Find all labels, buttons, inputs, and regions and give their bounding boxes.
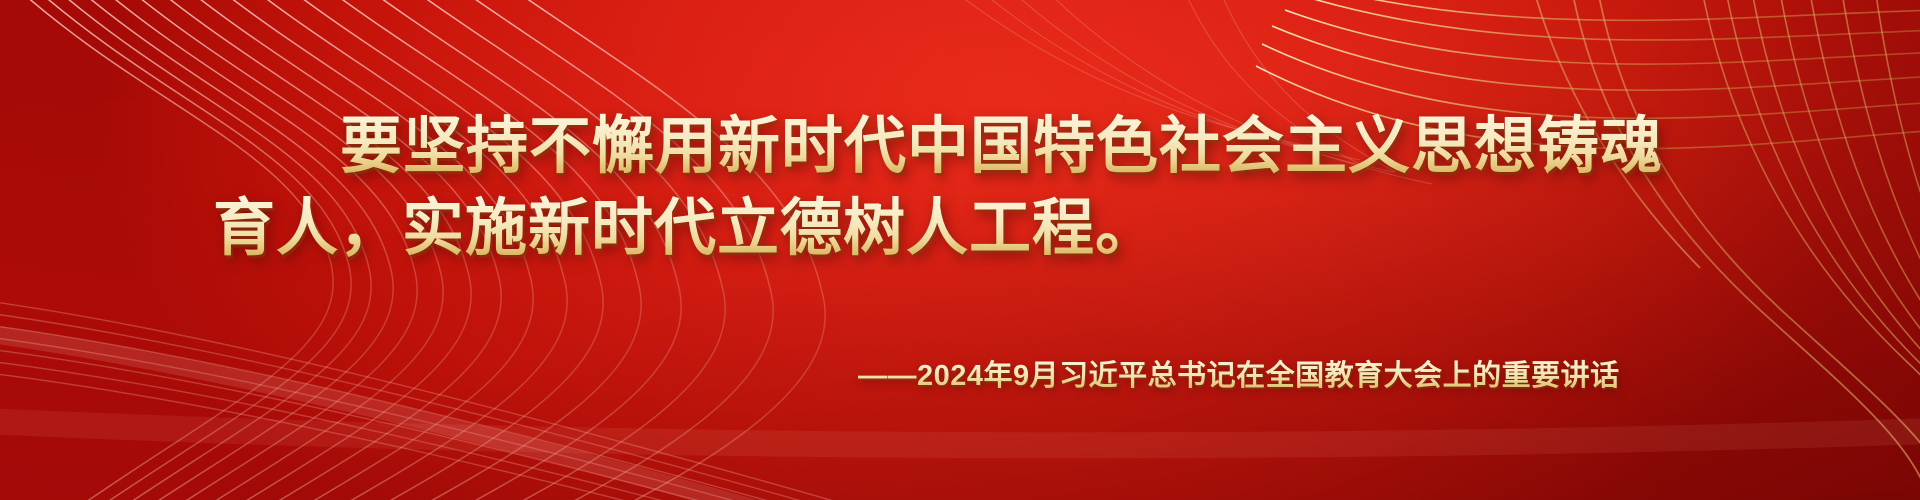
headline-line-2: 育人，实施新时代立德树人工程。 <box>213 192 1158 266</box>
attribution-source: ——2024年9月习近平总书记在全国教育大会上的重要讲话 <box>858 358 1620 394</box>
red-gold-quote-banner: 要坚持不懈用新时代中国特色社会主义思想铸魂 育人，实施新时代立德树人工程。 ——… <box>0 0 1920 500</box>
headline-line-1: 要坚持不懈用新时代中国特色社会主义思想铸魂 <box>340 110 1663 184</box>
quote-text-block: 要坚持不懈用新时代中国特色社会主义思想铸魂 育人，实施新时代立德树人工程。 ——… <box>0 0 1920 500</box>
